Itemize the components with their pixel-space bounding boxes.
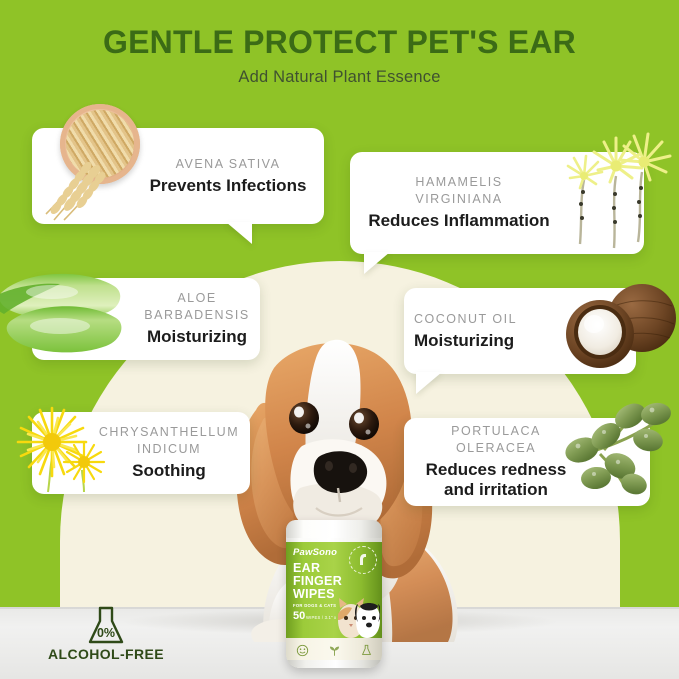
ingredient-benefit: Moisturizing bbox=[147, 327, 247, 348]
alcohol-free-label: ALCOHOL-FREE bbox=[44, 646, 168, 662]
ingredient-benefit: Soothing bbox=[132, 461, 206, 482]
flask-icon: 0% bbox=[84, 604, 128, 648]
flask-icon-wrap: 0% bbox=[44, 604, 168, 648]
ingredient-benefit: Reduces redness and irritation bbox=[426, 460, 567, 501]
product-audience: FOR DOGS & CATS bbox=[293, 603, 336, 608]
dog-silhouette-icon bbox=[354, 551, 372, 569]
ingredient-card-chrysanthellum-indicum[interactable]: CHRYSANTHELLUM INDICUM Soothing bbox=[32, 412, 250, 494]
ingredient-latin-name-2: VIRGINIANA bbox=[415, 191, 502, 208]
bubble-tail bbox=[226, 222, 252, 244]
card-text: COCONUT OIL Moisturizing bbox=[414, 288, 548, 374]
card-text: HAMAMELIS VIRGINIANA Reduces Inflammatio… bbox=[364, 152, 554, 254]
ingredient-latin-name: PORTULACA OLERACEA bbox=[416, 423, 576, 457]
infographic-poster: GENTLE PROTECT PET'S EAR Add Natural Pla… bbox=[0, 0, 679, 679]
ingredient-latin-name: HAMAMELIS bbox=[415, 174, 502, 191]
page-title: GENTLE PROTECT PET'S EAR bbox=[0, 26, 679, 60]
product-name-line-1: EAR bbox=[293, 562, 320, 575]
ingredient-latin-name: AVENA SATIVA bbox=[176, 156, 281, 173]
jar-label: PawSono EAR FINGER WIPES FOR DOGS & CATS… bbox=[286, 542, 382, 638]
ingredient-card-aloe-barbadensis[interactable]: ALOE BARBADENSIS Moisturizing bbox=[32, 278, 260, 360]
product-count: 50 bbox=[293, 611, 305, 622]
ingredient-benefit: Prevents Infections bbox=[150, 176, 307, 197]
gentle-face-icon bbox=[296, 644, 309, 657]
flask-percent-text: 0% bbox=[97, 626, 115, 640]
jar-lid bbox=[286, 520, 382, 538]
ingredient-latin-name: COCONUT OIL bbox=[414, 311, 517, 328]
card-text: AVENA SATIVA Prevents Infections bbox=[140, 128, 316, 224]
bubble-tail bbox=[364, 252, 390, 274]
feature-icons-row bbox=[286, 639, 382, 661]
product-name-line-2: FINGER bbox=[293, 575, 342, 588]
header: GENTLE PROTECT PET'S EAR Add Natural Pla… bbox=[0, 0, 679, 87]
product-name-line-3: WIPES bbox=[293, 588, 335, 601]
ingredient-card-coconut-oil[interactable]: COCONUT OIL Moisturizing bbox=[404, 288, 636, 374]
ingredient-card-avena-sativa[interactable]: AVENA SATIVA Prevents Infections bbox=[32, 128, 324, 224]
alcohol-free-flask-icon bbox=[360, 644, 373, 657]
ingredient-benefit: Moisturizing bbox=[414, 331, 514, 352]
bubble-tail bbox=[416, 372, 442, 394]
card-text: PORTULACA OLERACEA Reduces redness and i… bbox=[416, 418, 576, 506]
page-subtitle: Add Natural Plant Essence bbox=[0, 68, 679, 87]
ingredient-latin-name: CHRYSANTHELLUM bbox=[99, 424, 239, 441]
card-text: ALOE BARBADENSIS Moisturizing bbox=[136, 278, 258, 360]
ingredient-latin-name-2: BARBADENSIS bbox=[144, 307, 249, 324]
jar-base bbox=[286, 660, 382, 668]
ingredient-benefit: Reduces Inflammation bbox=[368, 211, 549, 232]
alcohol-free-badge: 0% ALCOHOL-FREE bbox=[44, 604, 168, 672]
ingredient-card-hamamelis-virginiana[interactable]: HAMAMELIS VIRGINIANA Reduces Inflammatio… bbox=[350, 152, 644, 254]
card-text: CHRYSANTHELLUM INDICUM Soothing bbox=[90, 412, 248, 494]
ingredient-latin-name-2: INDICUM bbox=[137, 441, 201, 458]
ingredient-latin-name: ALOE bbox=[177, 290, 216, 307]
wipes-jar: PawSono EAR FINGER WIPES FOR DOGS & CATS… bbox=[286, 520, 382, 668]
product-container[interactable]: PawSono EAR FINGER WIPES FOR DOGS & CATS… bbox=[286, 520, 382, 668]
natural-plant-icon bbox=[328, 644, 341, 657]
ingredient-card-portulaca-oleracea[interactable]: PORTULACA OLERACEA Reduces redness and i… bbox=[404, 418, 650, 506]
dog-seal-badge bbox=[349, 546, 377, 574]
cat-and-dog-silhouette-image bbox=[334, 590, 380, 638]
